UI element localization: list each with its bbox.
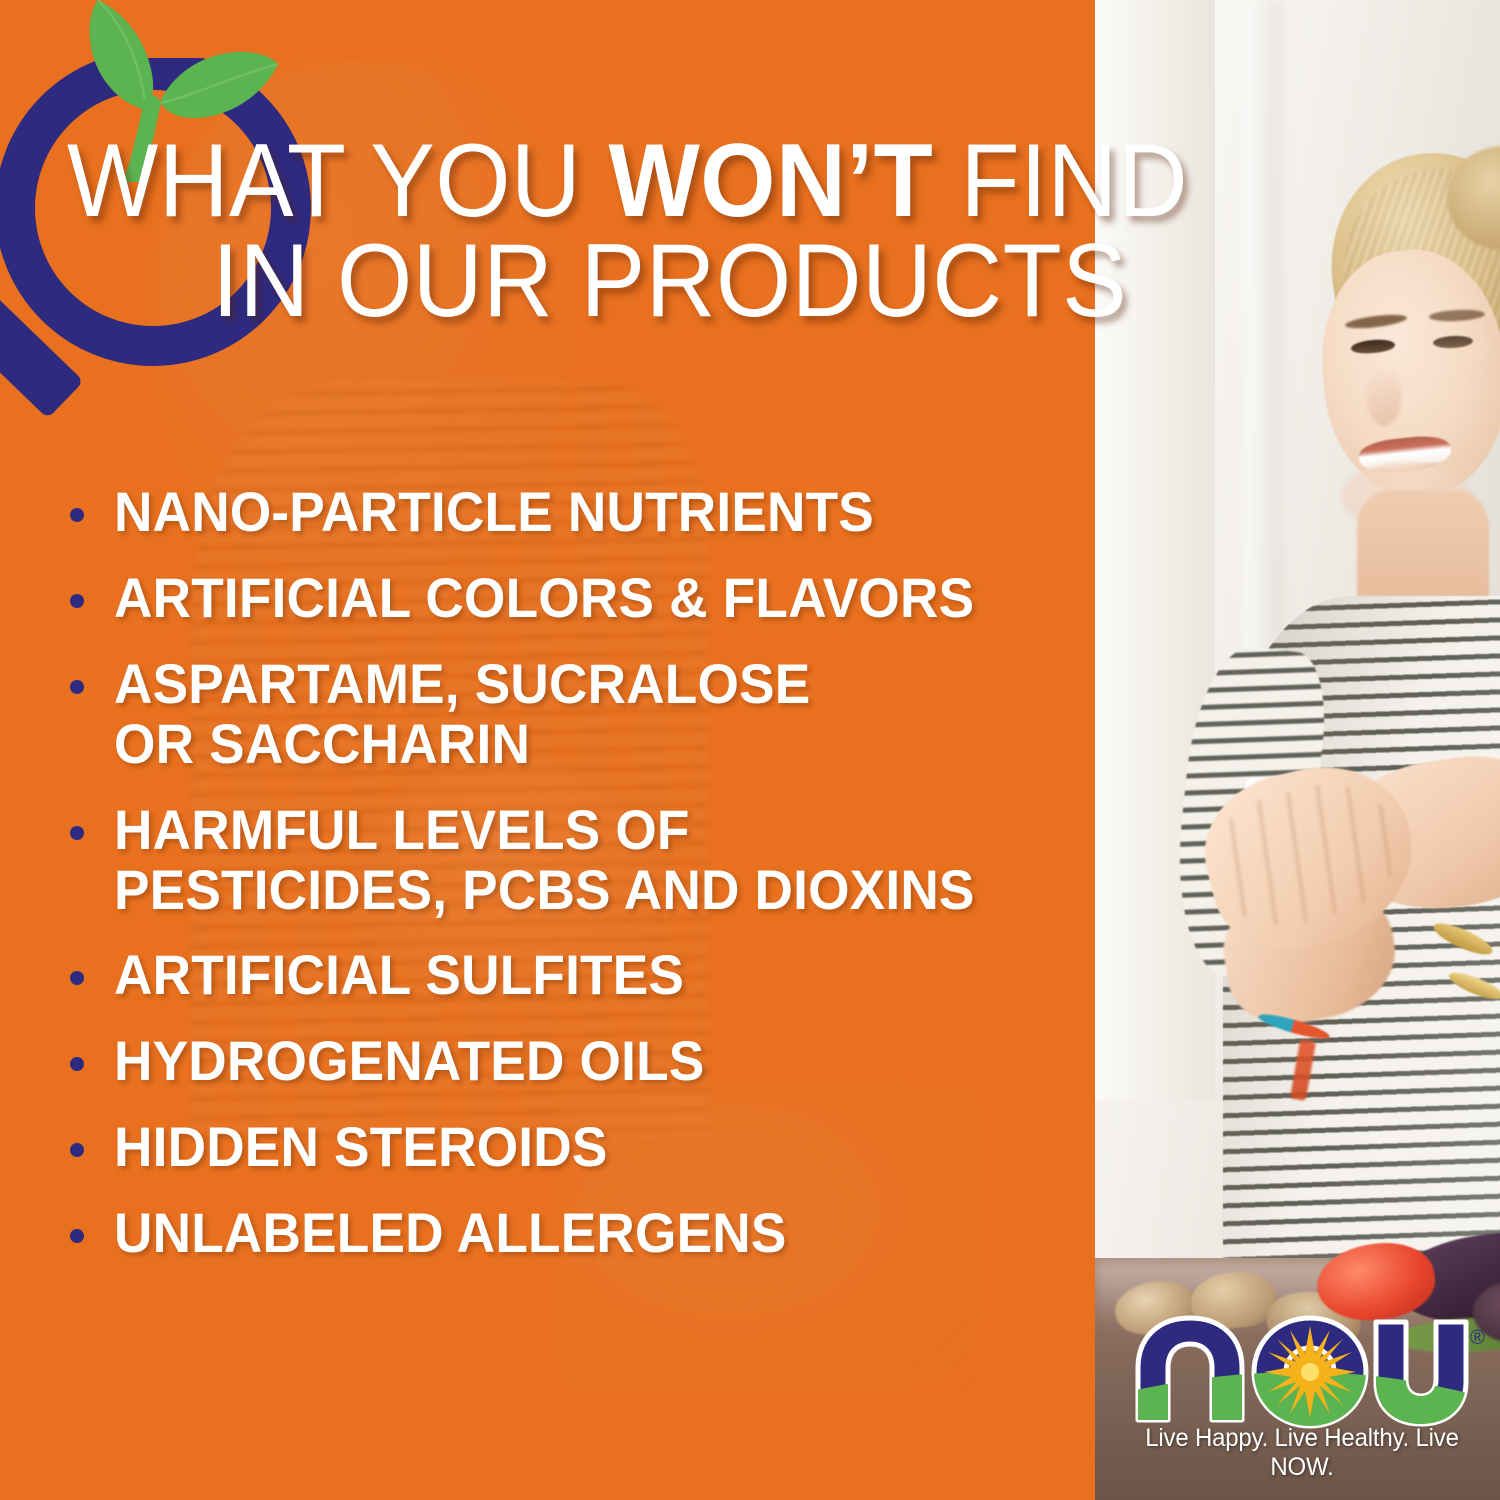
list-item-label: ARTIFICIAL COLORS & FLAVORS [114,568,974,628]
list-item-label: HYDROGENATED OILS [114,1031,704,1091]
bullet-dot-icon [70,1057,84,1071]
headline-emphasis: WON’T [609,123,934,239]
page-title: WHAT YOU WON’T FIND IN OUR PRODUCTS [0,132,1400,332]
headline-prefix: WHAT YOU [67,123,609,239]
list-item-label: HIDDEN STEROIDS [114,1117,608,1177]
list-item: HIDDEN STEROIDS [70,1117,1070,1177]
headline-line-2: IN OUR PRODUCTS [0,232,1302,332]
list-item-label: HARMFUL LEVELS OF PESTICIDES, PCBS AND D… [114,800,975,920]
list-item: ARTIFICIAL COLORS & FLAVORS [70,568,1070,628]
bullet-dot-icon [70,826,84,840]
list-item-label: UNLABELED ALLERGENS [114,1203,787,1263]
marketing-graphic: WHAT YOU WON’T FIND IN OUR PRODUCTS NANO… [0,0,1500,1500]
bullet-dot-icon [70,594,84,608]
headline-suffix: FIND [933,123,1188,239]
bullet-dot-icon [70,680,84,694]
bullet-dot-icon [70,1143,84,1157]
bullet-dot-icon [70,508,84,522]
list-item: NANO-PARTICLE NUTRIENTS [70,482,1070,542]
list-item: ASPARTAME, SUCRALOSE OR SACCHARIN [70,654,1070,774]
photo-nose [1367,370,1401,426]
list-item: UNLABELED ALLERGENS [70,1203,1070,1263]
list-item-label: NANO-PARTICLE NUTRIENTS [114,482,874,542]
sunburst-icon [1264,1326,1356,1418]
brand-tagline: Live Happy. Live Healthy. Live NOW. [1129,1424,1475,1482]
bullet-dot-icon [70,1229,84,1243]
list-item: HYDROGENATED OILS [70,1031,1070,1091]
list-item: ARTIFICIAL SULFITES [70,945,1070,1005]
list-item-label: ASPARTAME, SUCRALOSE OR SACCHARIN [114,654,810,774]
list-item: HARMFUL LEVELS OF PESTICIDES, PCBS AND D… [70,800,1070,920]
bullet-dot-icon [70,971,84,985]
headline-line-1: WHAT YOU WON’T FIND [0,132,1302,232]
list-item-label: ARTIFICIAL SULFITES [114,945,684,1005]
exclusion-list: NANO-PARTICLE NUTRIENTS ARTIFICIAL COLOR… [70,482,1070,1289]
registered-mark: ® [1470,1327,1485,1349]
